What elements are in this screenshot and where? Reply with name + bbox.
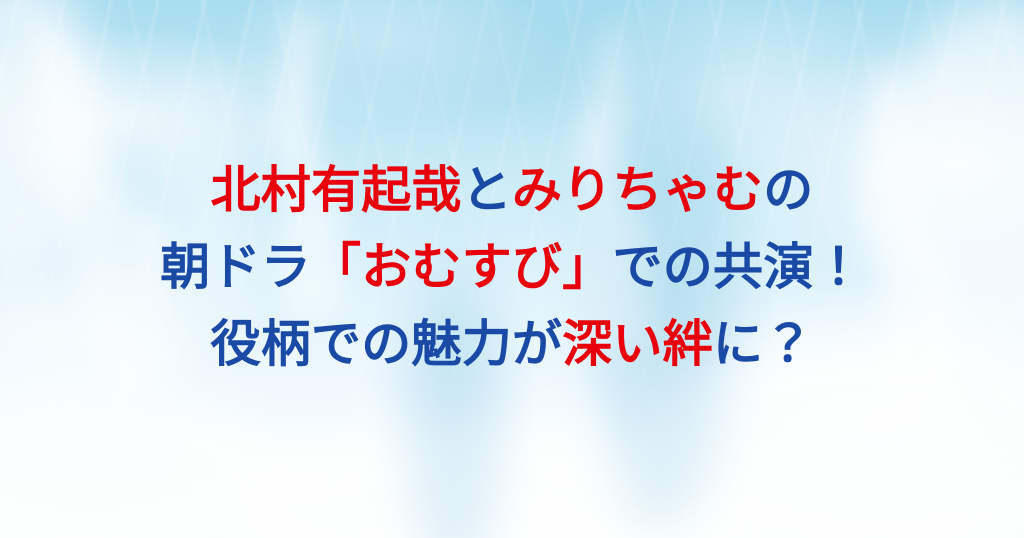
headline-text: 北村有起哉とみりちゃむの 朝ドラ「おむすび」での共演！ 役柄での魅力が深い絆に？ <box>0 152 1024 383</box>
headline-line-3: 役柄での魅力が深い絆に？ <box>0 306 1024 383</box>
headline-line-1: 北村有起哉とみりちゃむの <box>0 152 1024 229</box>
headline-segment: 役柄での魅力が <box>211 315 563 373</box>
headline-segment: に？ <box>713 315 814 373</box>
headline-segment: 深い絆 <box>562 315 713 373</box>
headline-segment: での共演！ <box>613 238 864 296</box>
title-card: 北村有起哉とみりちゃむの 朝ドラ「おむすび」での共演！ 役柄での魅力が深い絆に？ <box>0 0 1024 538</box>
headline-segment: の <box>763 161 813 219</box>
headline-segment: みりちゃむ <box>512 161 763 219</box>
headline-segment: 朝ドラ <box>160 238 311 296</box>
headline-line-2: 朝ドラ「おむすび」での共演！ <box>0 229 1024 306</box>
headline-segment: 「おむすび」 <box>311 238 613 296</box>
headline-segment: 北村有起哉 <box>211 161 462 219</box>
headline-segment: と <box>462 161 512 219</box>
